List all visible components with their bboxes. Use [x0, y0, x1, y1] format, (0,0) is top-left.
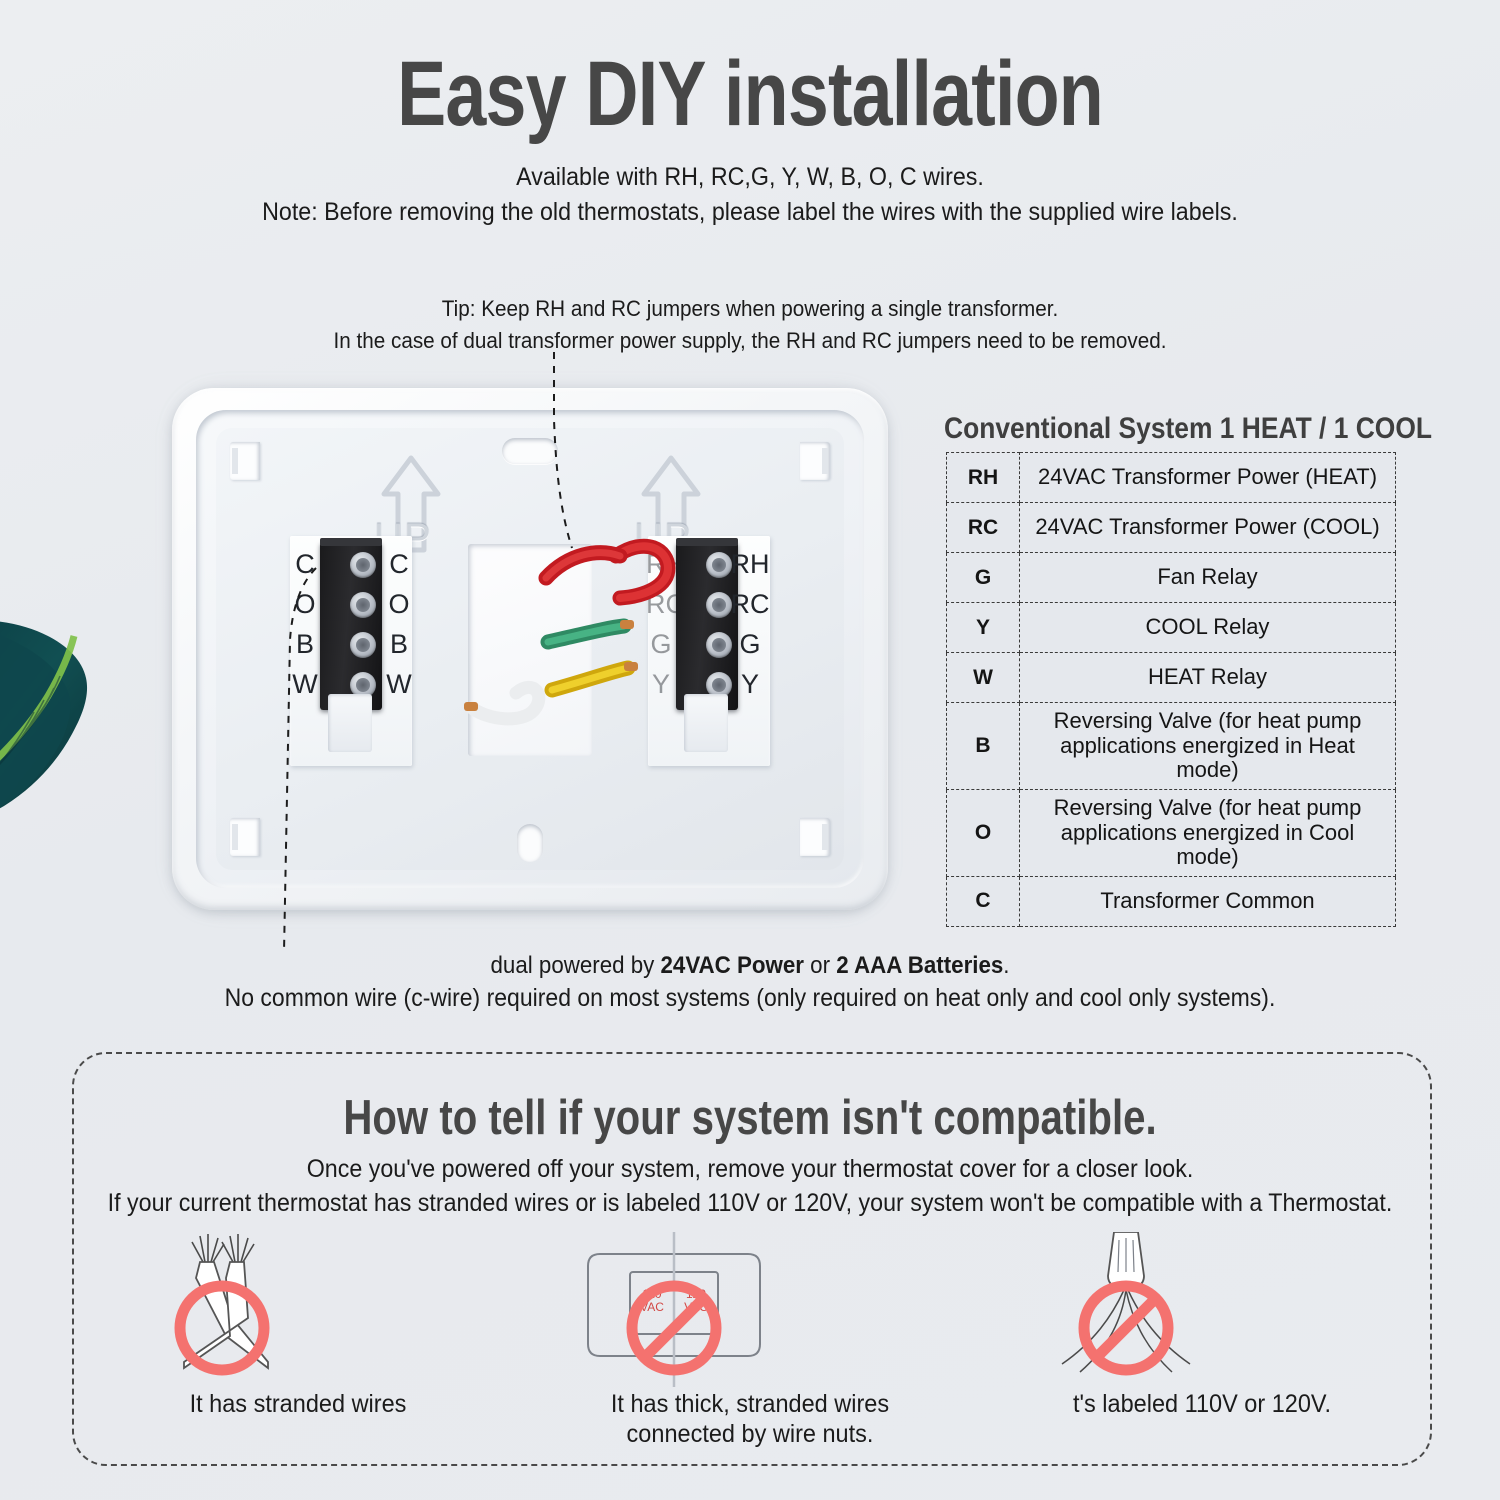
infographic-stage: Easy DIY installation Available with RH,…: [0, 0, 1500, 1500]
terminal-label-b: B: [292, 624, 318, 664]
table-cell-value: HEAT Relay: [1020, 653, 1396, 703]
table-row: O Reversing Valve (for heat pump applica…: [947, 789, 1396, 876]
terminal-label-y-inner: Y: [646, 664, 676, 704]
table-row: RH 24VAC Transformer Power (HEAT): [947, 453, 1396, 503]
table-cell-key: C: [947, 876, 1020, 926]
dual-power-bold-2: 2 AAA Batteries: [836, 952, 1003, 979]
terminal-label-g-inner: G: [646, 624, 676, 664]
table-cell-value: Transformer Common: [1020, 876, 1396, 926]
terminal-strip-left: C O B W C O B W: [290, 536, 412, 766]
tip-line-1: Tip: Keep RH and RC jumpers when powerin…: [45, 296, 1455, 322]
wiring-table-title: Conventional System 1 HEAT / 1 COOL: [944, 412, 1432, 446]
compatibility-line-2: If your current thermostat has stranded …: [53, 1189, 1448, 1218]
table-cell-value: 24VAC Transformer Power (COOL): [1020, 503, 1396, 553]
mounting-clip-bottom-right: [800, 818, 830, 856]
terminal-screw-rc[interactable]: [706, 592, 732, 618]
compatibility-icon-row: It has stranded wires 110 VAC 120 VAC It…: [72, 1232, 1428, 1462]
terminal-label-w: W: [292, 664, 318, 704]
table-row: Y COOL Relay: [947, 603, 1396, 653]
compatibility-caption-1: It has stranded wires: [86, 1390, 511, 1420]
terminal-screw-b[interactable]: [350, 632, 376, 658]
terminal-label-b-inner: B: [386, 624, 412, 664]
compatibility-title: How to tell if your system isn't compati…: [135, 1090, 1365, 1146]
terminal-label-rc: RC: [730, 584, 770, 624]
table-cell-key: RH: [947, 453, 1020, 503]
header-subtitle-2: Note: Before removing the old thermostat…: [53, 198, 1448, 227]
thermostat-baseplate: UP UP C O B W C: [172, 388, 888, 910]
table-cell-key: O: [947, 789, 1020, 876]
terminal-strip-left-foot: [328, 694, 372, 752]
table-cell-key: G: [947, 553, 1020, 603]
terminal-labels-right-outer: RH RC G Y: [730, 544, 770, 704]
table-cell-value: Reversing Valve (for heat pump applicati…: [1020, 703, 1396, 790]
mounting-clip-bottom-left: [230, 818, 260, 856]
header-subtitle-1: Available with RH, RC,G, Y, W, B, O, C w…: [53, 163, 1448, 192]
table-cell-key: Y: [947, 603, 1020, 653]
table-cell-value: 24VAC Transformer Power (HEAT): [1020, 453, 1396, 503]
leaf-decoration-icon: [0, 600, 136, 830]
terminal-block-right-cap: [676, 538, 738, 546]
dual-power-mid: or: [804, 952, 836, 979]
dual-power-suffix: .: [1003, 952, 1009, 979]
baseplate-inner-surface: UP UP C O B W C: [216, 428, 844, 870]
table-row: C Transformer Common: [947, 876, 1396, 926]
wire-nut-icon: [976, 1232, 1276, 1387]
table-cell-value: Reversing Valve (for heat pump applicati…: [1020, 789, 1396, 876]
terminal-block-left-cap: [320, 538, 382, 546]
terminal-strip-right-foot: [684, 694, 728, 752]
terminal-block-right: [676, 542, 738, 710]
stranded-wires-icon: [72, 1232, 372, 1387]
terminal-label-w-inner: W: [386, 664, 412, 704]
terminal-screw-g[interactable]: [706, 632, 732, 658]
table-row: RC 24VAC Transformer Power (COOL): [947, 503, 1396, 553]
dual-power-text: dual powered by 24VAC Power or 2 AAA Bat…: [53, 952, 1448, 980]
dual-power-prefix: dual powered by: [491, 952, 661, 979]
terminal-strip-right: RH RC G Y RH RC G Y: [648, 536, 770, 766]
table-row: G Fan Relay: [947, 553, 1396, 603]
terminal-label-c-inner: C: [386, 544, 412, 584]
mounting-slot-bottom: [517, 824, 543, 862]
mounting-slot-top: [502, 438, 558, 464]
terminal-screw-o[interactable]: [350, 592, 376, 618]
table-cell-key: B: [947, 703, 1020, 790]
mounting-clip-top-right: [800, 442, 830, 480]
table-row: B Reversing Valve (for heat pump applica…: [947, 703, 1396, 790]
compatibility-item-1: It has stranded wires: [72, 1232, 524, 1462]
tip-line-2: In the case of dual transformer power su…: [45, 328, 1455, 354]
terminal-label-rc-inner: RC: [646, 584, 676, 624]
thermostat-voltage-label-icon: 110 VAC 120 VAC: [524, 1232, 824, 1387]
terminal-block-left: [320, 542, 382, 710]
page-title: Easy DIY installation: [150, 46, 1350, 143]
dual-power-bold-1: 24VAC Power: [661, 952, 804, 979]
table-cell-key: RC: [947, 503, 1020, 553]
mounting-clip-top-left: [230, 442, 260, 480]
terminal-labels-left-outer: C O B W: [292, 544, 318, 704]
compatibility-item-3: t's labeled 110V or 120V.: [976, 1232, 1428, 1462]
wiring-table: RH 24VAC Transformer Power (HEAT) RC 24V…: [946, 452, 1396, 927]
terminal-label-o-inner: O: [386, 584, 412, 624]
terminal-label-rh-inner: RH: [646, 544, 676, 584]
compatibility-caption-3: t's labeled 110V or 120V.: [990, 1390, 1415, 1420]
no-common-wire-text: No common wire (c-wire) required on most…: [60, 984, 1440, 1013]
terminal-screw-c[interactable]: [350, 552, 376, 578]
terminal-labels-right-inner: RH RC G Y: [646, 544, 676, 704]
table-cell-key: W: [947, 653, 1020, 703]
prohibition-slash: [1097, 1299, 1155, 1357]
terminal-label-g: G: [730, 624, 770, 664]
terminal-label-o: O: [292, 584, 318, 624]
terminal-label-c: C: [292, 544, 318, 584]
terminal-label-y: Y: [730, 664, 770, 704]
compatibility-caption-2: It has thick, stranded wires connected b…: [538, 1390, 963, 1449]
table-row: W HEAT Relay: [947, 653, 1396, 703]
terminal-screw-rh[interactable]: [706, 552, 732, 578]
terminal-labels-left-inner: C O B W: [386, 544, 412, 704]
table-cell-value: Fan Relay: [1020, 553, 1396, 603]
compatibility-line-1: Once you've powered off your system, rem…: [53, 1155, 1448, 1184]
wire-entry-window: [468, 544, 592, 756]
compatibility-item-2: 110 VAC 120 VAC It has thick, stranded w…: [524, 1232, 976, 1462]
terminal-label-rh: RH: [730, 544, 770, 584]
table-cell-value: COOL Relay: [1020, 603, 1396, 653]
